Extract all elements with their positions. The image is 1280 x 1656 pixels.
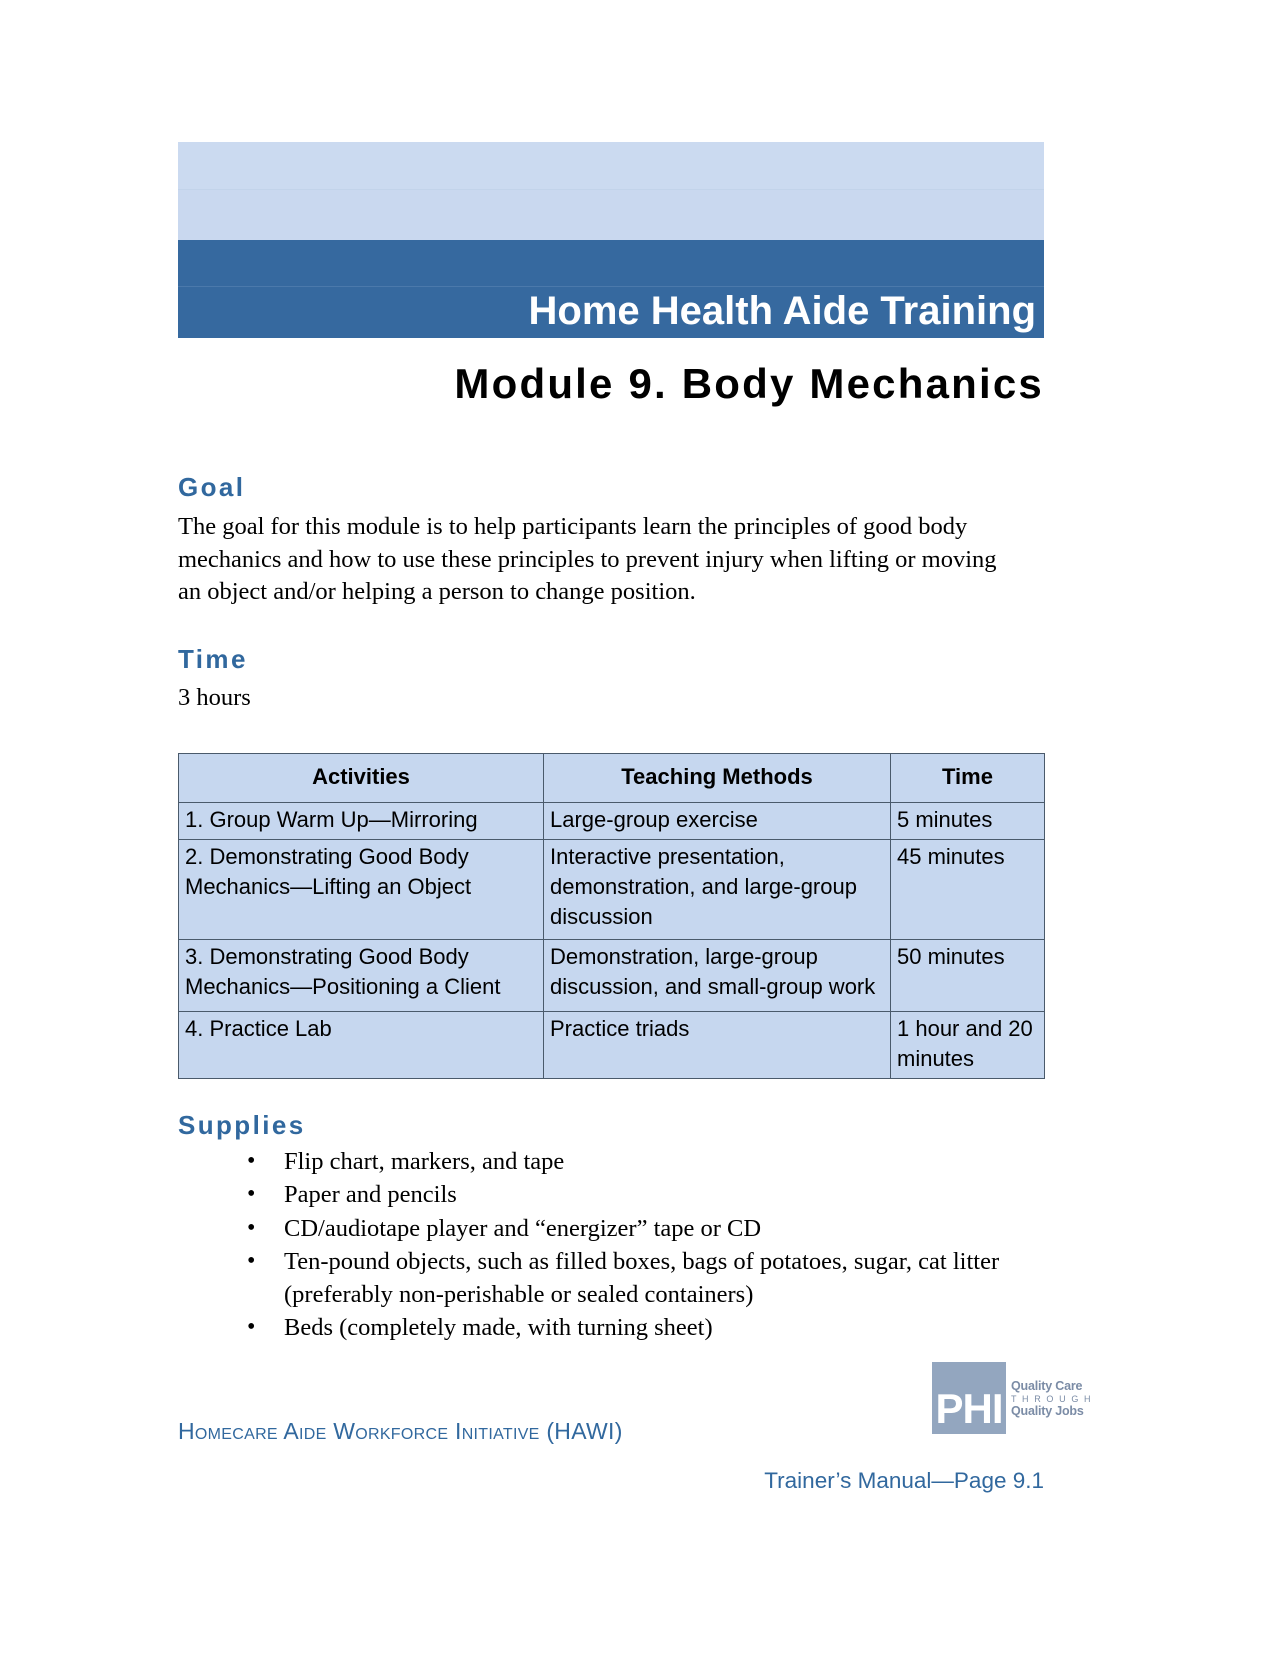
- bullet-icon: •: [247, 1311, 255, 1344]
- list-item: •Paper and pencils: [238, 1179, 1038, 1212]
- list-item: •Ten-pound objects, such as filled boxes…: [238, 1246, 1038, 1312]
- phi-tagline-line-1: Quality Care: [1011, 1380, 1085, 1393]
- table-row: 4. Practice Lab Practice triads 1 hour a…: [179, 1012, 1045, 1079]
- banner-light-stripe-bottom: [178, 190, 1044, 240]
- cell-time: 1 hour and 20 minutes: [891, 1012, 1045, 1079]
- column-header-time: Time: [891, 754, 1045, 803]
- list-item: •Beds (completely made, with turning she…: [238, 1312, 1038, 1345]
- supplies-list: •Flip chart, markers, and tape •Paper an…: [238, 1146, 1038, 1345]
- section-heading-goal: Goal: [178, 472, 245, 503]
- cell-time: 5 minutes: [891, 803, 1045, 840]
- table-row: 3. Demonstrating Good Body Mechanics—Pos…: [179, 940, 1045, 1012]
- list-item-label: Paper and pencils: [284, 1181, 457, 1208]
- list-item-label: Ten-pound objects, such as filled boxes,…: [284, 1248, 999, 1308]
- footer-organization: Homecare Aide Workforce Initiative (HAWI…: [178, 1418, 623, 1445]
- column-header-activities: Activities: [179, 754, 544, 803]
- cell-activity: 1. Group Warm Up—Mirroring: [179, 803, 544, 840]
- phi-tagline-line-3: Quality Jobs: [1011, 1405, 1085, 1418]
- list-item: •CD/audiotape player and “energizer” tap…: [238, 1213, 1038, 1246]
- table-header-row: Activities Teaching Methods Time: [179, 754, 1045, 803]
- table-row: 1. Group Warm Up—Mirroring Large-group e…: [179, 803, 1045, 840]
- agenda-table-body: 1. Group Warm Up—Mirroring Large-group e…: [179, 803, 1045, 1079]
- bullet-icon: •: [247, 1212, 255, 1245]
- cell-activity: 3. Demonstrating Good Body Mechanics—Pos…: [179, 940, 544, 1012]
- document-page: Home Health Aide Training Module 9. Body…: [0, 0, 1280, 1656]
- section-heading-supplies: Supplies: [178, 1110, 306, 1141]
- cell-time: 50 minutes: [891, 940, 1045, 1012]
- cell-time: 45 minutes: [891, 840, 1045, 940]
- list-item-label: Beds (completely made, with turning shee…: [284, 1314, 713, 1341]
- phi-tagline: Quality Care T H R O U G H Quality Jobs: [1011, 1380, 1085, 1418]
- cell-method: Interactive presentation, demonstration,…: [544, 840, 891, 940]
- bullet-icon: •: [247, 1145, 255, 1178]
- banner-title: Home Health Aide Training: [178, 287, 1036, 338]
- bullet-icon: •: [247, 1178, 255, 1211]
- time-value: 3 hours: [178, 682, 578, 715]
- column-header-teaching-methods: Teaching Methods: [544, 754, 891, 803]
- cell-activity: 2. Demonstrating Good Body Mechanics—Lif…: [179, 840, 544, 940]
- footer-page-label: Trainer’s Manual—Page 9.1: [178, 1468, 1044, 1494]
- phi-wordmark: PHI: [932, 1362, 1006, 1434]
- module-title: Module 9. Body Mechanics: [178, 360, 1044, 408]
- banner-light-stripe-top: [178, 142, 1044, 190]
- table-row: 2. Demonstrating Good Body Mechanics—Lif…: [179, 840, 1045, 940]
- goal-paragraph: The goal for this module is to help part…: [178, 511, 1018, 609]
- list-item-label: CD/audiotape player and “energizer” tape…: [284, 1215, 761, 1242]
- banner-dark-stripe-top: [178, 240, 1044, 287]
- agenda-table-head: Activities Teaching Methods Time: [179, 754, 1045, 803]
- cell-method: Practice triads: [544, 1012, 891, 1079]
- bullet-icon: •: [247, 1245, 255, 1278]
- agenda-table: Activities Teaching Methods Time 1. Grou…: [178, 753, 1045, 1079]
- cell-activity: 4. Practice Lab: [179, 1012, 544, 1079]
- section-heading-time: Time: [178, 644, 248, 675]
- cell-method: Large-group exercise: [544, 803, 891, 840]
- list-item-label: Flip chart, markers, and tape: [284, 1148, 564, 1175]
- cell-method: Demonstration, large-group discussion, a…: [544, 940, 891, 1012]
- header-banner: Home Health Aide Training: [178, 142, 1044, 338]
- phi-logo: PHI Quality Care T H R O U G H Quality J…: [932, 1362, 1084, 1434]
- list-item: •Flip chart, markers, and tape: [238, 1146, 1038, 1179]
